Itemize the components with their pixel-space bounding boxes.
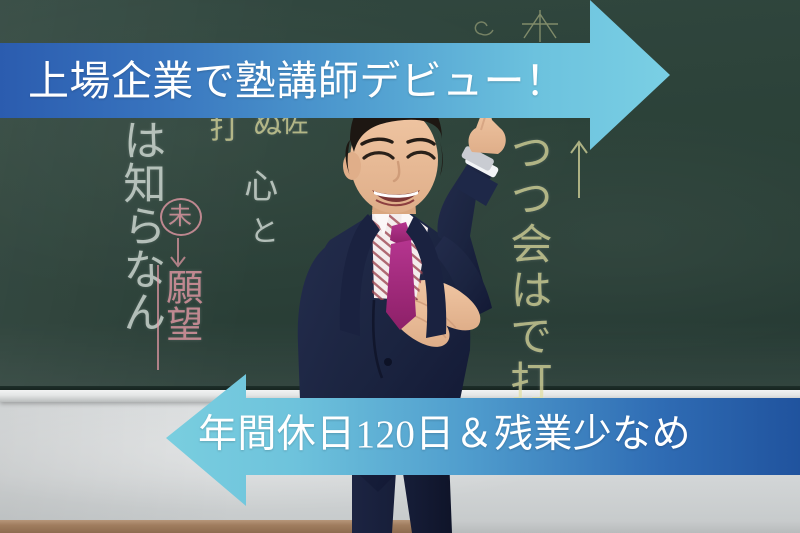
chalk-tray (0, 390, 800, 402)
top-banner-text: 上場企業で塾講師デビュー！ (28, 50, 566, 112)
bottom-banner-text: 年間休日120日＆残業少なめ (198, 404, 691, 466)
floor-strip-right (430, 520, 800, 533)
promo-banner-image: は知らなん 未 願望 心 ぬ 打 佐 と つつ会はで打 (0, 0, 800, 533)
